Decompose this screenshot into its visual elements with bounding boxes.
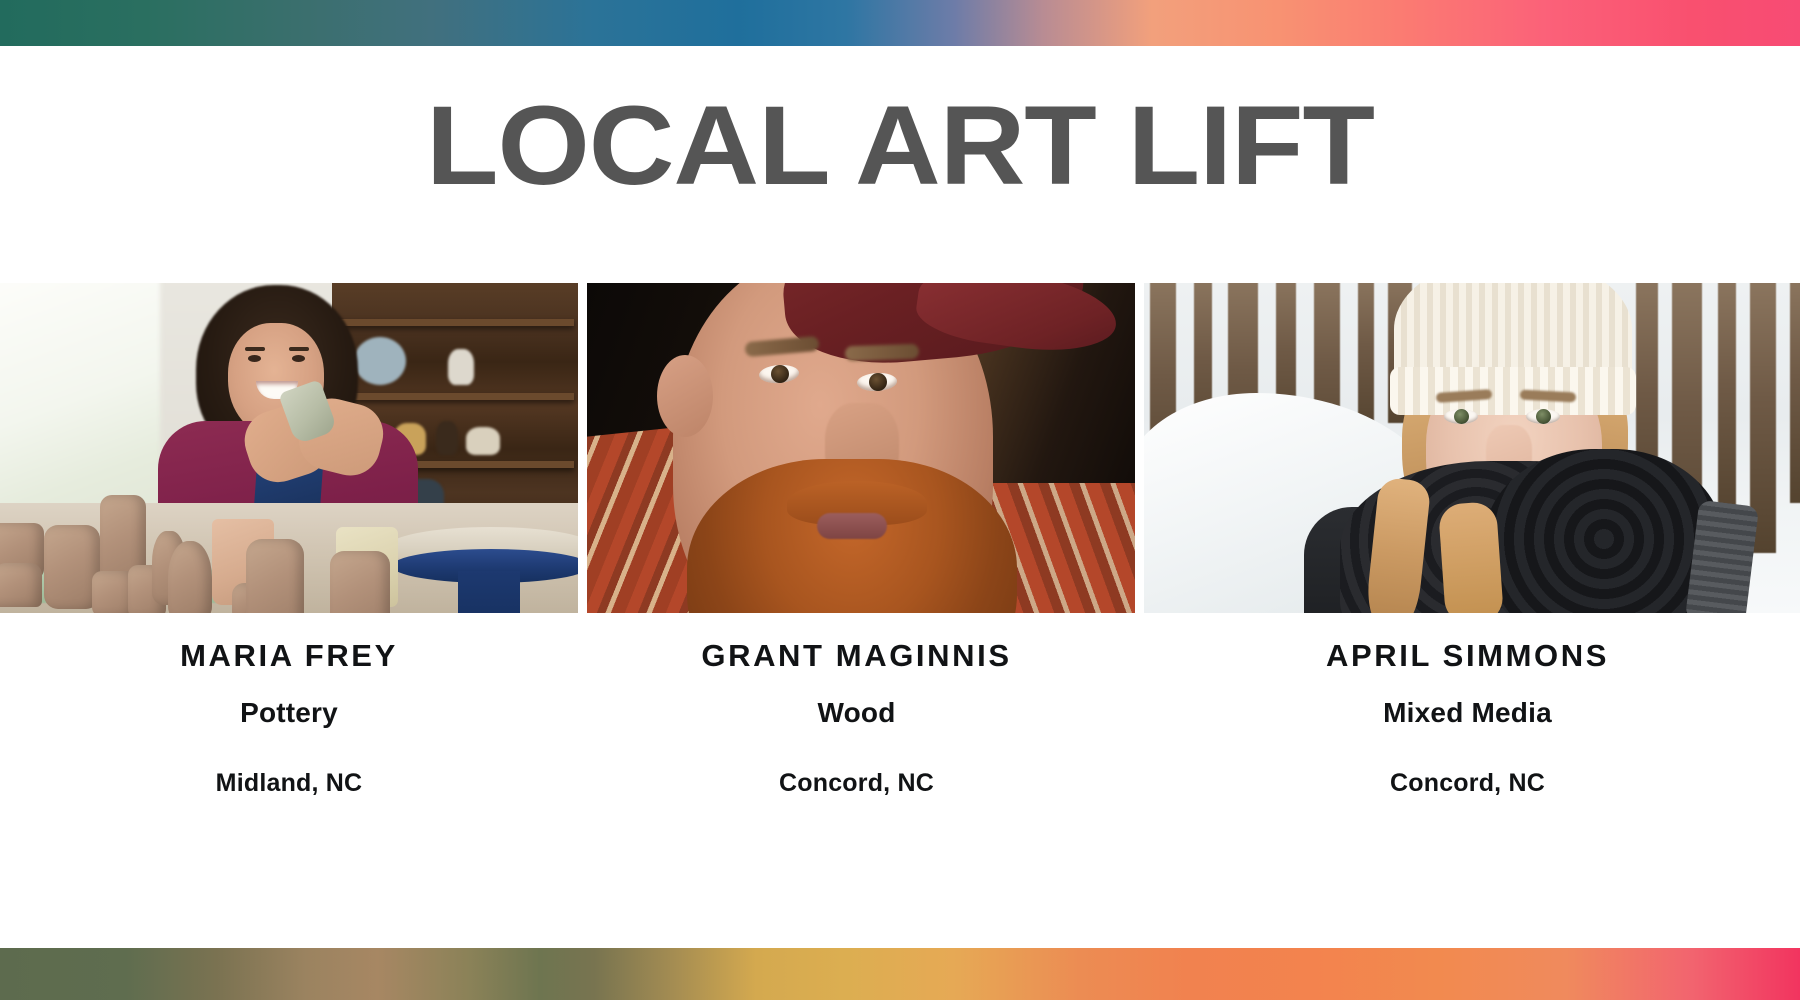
artist-caption-maria-frey: MARIA FREY Pottery Midland, NC [0, 640, 578, 796]
tree-trunk [1790, 283, 1800, 503]
artist-medium: Pottery [0, 699, 578, 727]
eyebrow [245, 347, 265, 351]
iris [1454, 409, 1469, 424]
clay-vessel [168, 541, 212, 613]
artist-caption-grant-maginnis: GRANT MAGINNIS Wood Concord, NC [578, 640, 1135, 796]
photo-image-winter-portrait [1144, 283, 1800, 613]
eyebrow [845, 344, 919, 362]
clay-vessel [246, 539, 304, 613]
iris [771, 365, 789, 383]
pottery-wheel [386, 527, 578, 613]
shelf [340, 393, 574, 400]
mouth [817, 513, 887, 539]
iris [869, 373, 887, 391]
artist-caption-row: MARIA FREY Pottery Midland, NC GRANT MAG… [0, 640, 1800, 796]
artist-caption-april-simmons: APRIL SIMMONS Mixed Media Concord, NC [1135, 640, 1800, 796]
top-gradient-bar [0, 0, 1800, 46]
artist-location: Concord, NC [1135, 771, 1800, 796]
photo-image-woodworker [587, 283, 1135, 613]
eyebrow [289, 347, 309, 351]
photo-image-potter [0, 283, 578, 613]
slide-canvas: LOCAL ART LIFT [0, 0, 1800, 1000]
wheel-stem [458, 571, 520, 613]
eye [292, 355, 305, 362]
page-title: LOCAL ART LIFT [0, 90, 1800, 202]
artist-medium: Wood [578, 699, 1135, 727]
artist-photo-row [0, 283, 1800, 613]
artist-name: APRIL SIMMONS [1135, 640, 1800, 671]
ear [657, 355, 713, 437]
bottom-gradient-bar [0, 948, 1800, 1000]
artist-name: GRANT MAGINNIS [578, 640, 1135, 671]
artist-medium: Mixed Media [1135, 699, 1800, 727]
blonde-hair-strand [1438, 501, 1504, 613]
clay-vessel [0, 563, 42, 607]
shelf-pot [354, 337, 406, 385]
artist-name: MARIA FREY [0, 640, 578, 671]
artist-photo-grant-maginnis [587, 283, 1135, 613]
iris [1536, 409, 1551, 424]
clay-vessel [330, 551, 390, 613]
shelf-pot [448, 349, 474, 385]
eye [248, 355, 261, 362]
artist-photo-maria-frey [0, 283, 578, 613]
artist-location: Midland, NC [0, 771, 578, 796]
shelf [340, 319, 574, 326]
shelf-pot [436, 421, 458, 455]
tree-trunk [1718, 283, 1736, 523]
artist-location: Concord, NC [578, 771, 1135, 796]
shelf-pot [466, 427, 500, 455]
tree-trunk [1358, 283, 1374, 433]
beanie-brim [1390, 367, 1636, 415]
artist-photo-april-simmons [1144, 283, 1800, 613]
